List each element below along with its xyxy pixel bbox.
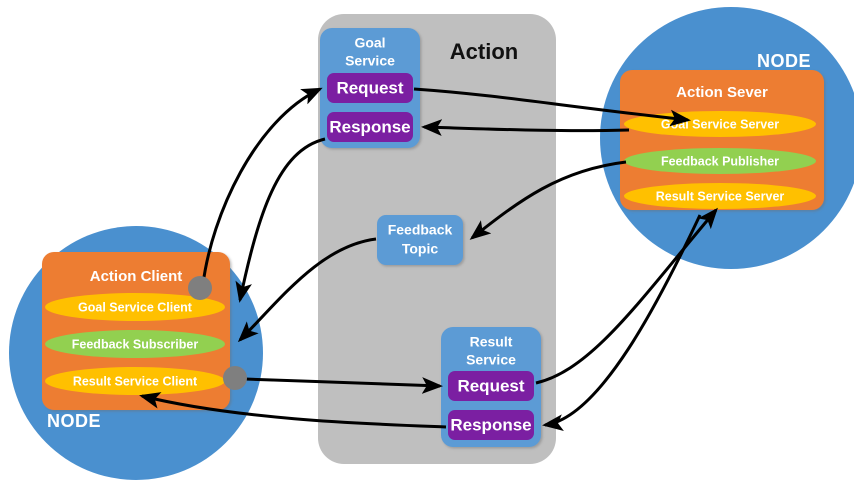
pill-feedback-subscriber-label: Feedback Subscriber (72, 337, 199, 351)
goal-service[interactable]: Goal Service Request Response (320, 28, 420, 148)
connector-dot-goal-client (188, 276, 212, 300)
diagram-canvas: Action Action Client Goal Service Client… (0, 0, 854, 480)
server-node-label: NODE (757, 51, 811, 71)
result-service-title-line2: Service (466, 352, 516, 368)
client-node[interactable]: Action Client Goal Service Client Feedba… (9, 226, 263, 480)
pill-feedback-publisher-label: Feedback Publisher (661, 154, 779, 168)
connector-dot-result-client (223, 366, 247, 390)
pill-result-service-server-label: Result Service Server (656, 189, 785, 203)
result-service[interactable]: Result Service Request Response (441, 327, 541, 447)
goal-service-title-line2: Service (345, 53, 395, 69)
goal-service-response-label: Response (329, 117, 410, 136)
server-node[interactable]: Action Sever Goal Service Server Feedbac… (600, 7, 854, 269)
pill-result-service-client-label: Result Service Client (73, 374, 198, 388)
goal-service-title-line1: Goal (354, 35, 385, 51)
feedback-topic-title-line2: Topic (402, 241, 439, 257)
feedback-topic[interactable]: Feedback Topic (377, 215, 463, 265)
action-panel-label: Action (450, 39, 518, 64)
server-box-title: Action Sever (676, 84, 768, 101)
result-service-response-label: Response (450, 415, 531, 434)
arrow-goalresponse-to-goalclient (240, 139, 325, 300)
client-box-title: Action Client (90, 268, 183, 285)
result-service-request-label: Request (457, 376, 524, 395)
goal-service-request-label: Request (336, 78, 403, 97)
feedback-topic-title-line1: Feedback (388, 222, 453, 238)
result-service-title-line1: Result (470, 334, 513, 350)
pill-goal-service-client-label: Goal Service Client (78, 300, 193, 314)
client-node-label: NODE (47, 411, 101, 431)
action-diagram: Action Action Client Goal Service Client… (0, 0, 854, 480)
